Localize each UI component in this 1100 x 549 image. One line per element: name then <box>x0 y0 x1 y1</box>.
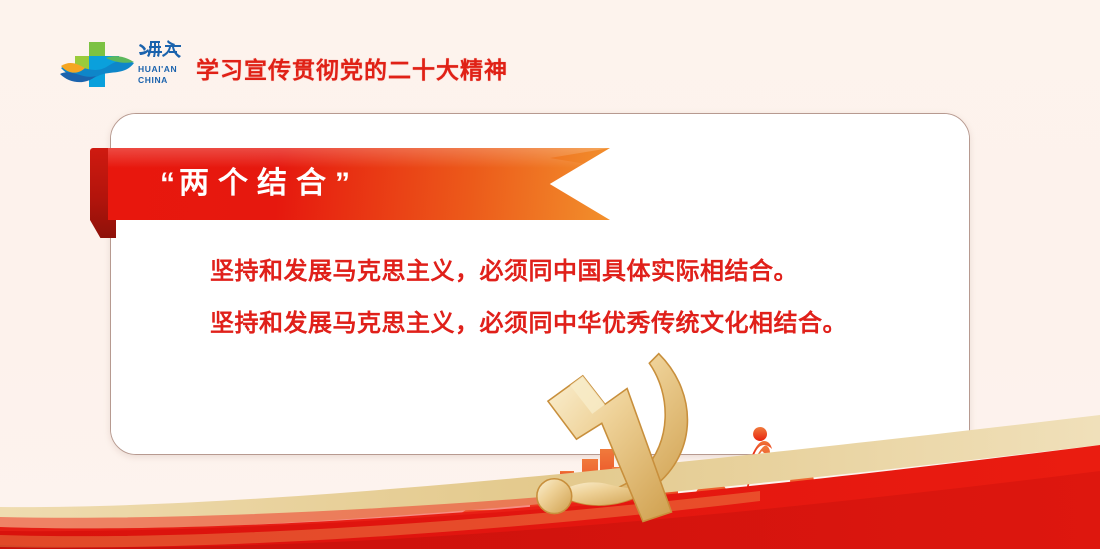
banner-text-group: “两个结合” <box>160 148 354 220</box>
huaian-city-logo-icon <box>58 38 136 92</box>
logo-chinese-name <box>138 38 184 62</box>
hammer-and-sickle-emblem <box>70 411 205 531</box>
banner-quote-close: ” <box>335 167 354 200</box>
logo-english-name: HUAI'AN CHINA <box>138 64 186 88</box>
paragraph-1: 坚持和发展马克思主义，必须同中国具体实际相结合。 <box>148 246 938 298</box>
bottom-decoration <box>0 359 1100 549</box>
logo-country: CHINA <box>138 75 186 86</box>
poster-canvas: HUAI'AN CHINA 学习宣传贯彻党的二十大精神 “两个结合” 坚持和发展… <box>0 0 1100 549</box>
logo-pinyin: HUAI'AN <box>138 64 186 75</box>
page-title: 学习宣传贯彻党的二十大精神 <box>196 55 508 85</box>
header-bar: HUAI'AN CHINA 学习宣传贯彻党的二十大精神 <box>0 0 1100 108</box>
banner-label: 两个结合 <box>179 167 335 200</box>
section-banner: “两个结合” <box>90 148 610 220</box>
logo[interactable]: HUAI'AN CHINA <box>58 36 183 94</box>
banner-quote-open: “ <box>160 167 179 200</box>
content-paragraphs: 坚持和发展马克思主义，必须同中国具体实际相结合。 坚持和发展马克思主义，必须同中… <box>148 246 938 350</box>
